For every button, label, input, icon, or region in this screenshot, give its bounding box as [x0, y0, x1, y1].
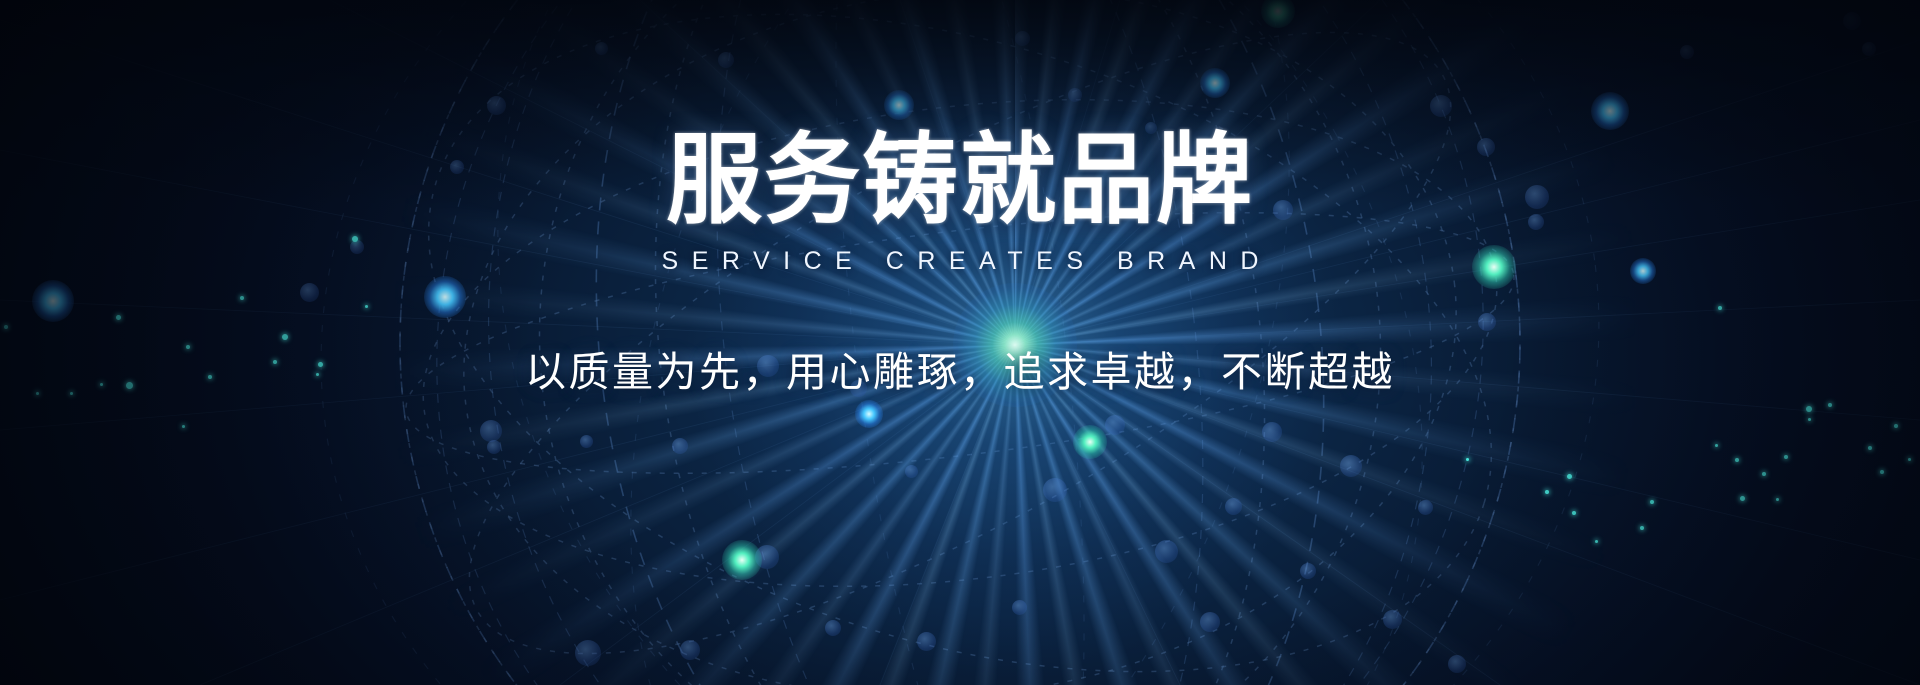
banner-tagline: 以质量为先，用心雕琢，追求卓越，不断超越	[0, 338, 1920, 398]
banner-subheadline: SERVICE CREATES BRAND	[0, 247, 1920, 276]
hero-banner: 服务铸就品牌 SERVICE CREATES BRAND 以质量为先，用心雕琢，…	[0, 0, 1920, 685]
banner-headline: 服务铸就品牌	[29, 0, 1891, 233]
banner-copy: 服务铸就品牌 SERVICE CREATES BRAND 以质量为先，用心雕琢，…	[0, 0, 1920, 398]
